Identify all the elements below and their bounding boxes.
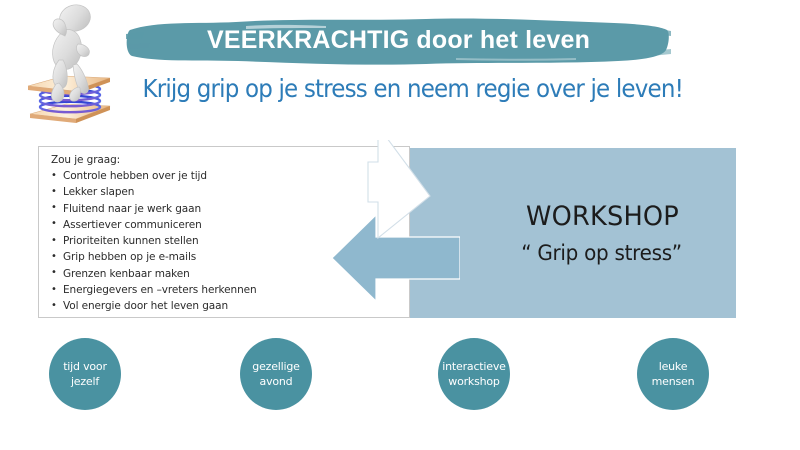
circle-line-1: tijd voor bbox=[63, 359, 107, 374]
list-item: Fluitend naar je werk gaan bbox=[49, 201, 409, 217]
page-title-rest: door het leven bbox=[416, 26, 590, 55]
circle-line-1: gezellige bbox=[252, 359, 299, 374]
highlight-circle-leuke-mensen: leuke mensen bbox=[637, 338, 709, 410]
circle-line-2: mensen bbox=[652, 374, 695, 389]
circle-line-2: workshop bbox=[448, 374, 499, 389]
page-title: VEERKRACHTIG door het leven bbox=[126, 14, 671, 68]
list-item: Vol energie door het leven gaan bbox=[49, 298, 409, 314]
list-item: Prioriteiten kunnen stellen bbox=[49, 233, 409, 249]
highlight-circle-tijd-voor-jezelf: tijd voor jezelf bbox=[49, 338, 121, 410]
benefits-list: Controle hebben over je tijd Lekker slap… bbox=[49, 168, 409, 315]
mascot-illustration bbox=[18, 2, 133, 134]
workshop-subtitle: “ Grip op stress” bbox=[522, 241, 683, 265]
circle-line-2: avond bbox=[260, 374, 293, 389]
list-item: Grip hebben op je e-mails bbox=[49, 249, 409, 265]
list-item: Grenzen kenbaar maken bbox=[49, 266, 409, 282]
circle-line-1: interactieve bbox=[442, 359, 505, 374]
circle-line-1: leuke bbox=[659, 359, 688, 374]
page-subtitle: Krijg grip op je stress en neem regie ov… bbox=[142, 74, 659, 103]
highlight-circle-interactieve-workshop: interactieve workshop bbox=[438, 338, 510, 410]
page-title-keyword: VEERKRACHTIG bbox=[207, 26, 409, 55]
benefits-list-box: Zou je graag: Controle hebben over je ti… bbox=[38, 146, 410, 318]
workshop-panel: WORKSHOP “ Grip op stress” bbox=[408, 148, 736, 318]
list-item: Lekker slapen bbox=[49, 184, 409, 200]
list-item: Energiegevers en –vreters herkennen bbox=[49, 282, 409, 298]
header-banner: VEERKRACHTIG door het leven bbox=[126, 14, 671, 68]
list-item: Controle hebben over je tijd bbox=[49, 168, 409, 184]
circle-line-2: jezelf bbox=[71, 374, 99, 389]
slide-canvas: VEERKRACHTIG door het leven Krijg grip o… bbox=[0, 0, 800, 450]
list-item: Assertiever communiceren bbox=[49, 217, 409, 233]
benefits-list-heading: Zou je graag: bbox=[51, 154, 409, 166]
workshop-title: WORKSHOP bbox=[526, 201, 679, 232]
highlight-circle-gezellige-avond: gezellige avond bbox=[240, 338, 312, 410]
